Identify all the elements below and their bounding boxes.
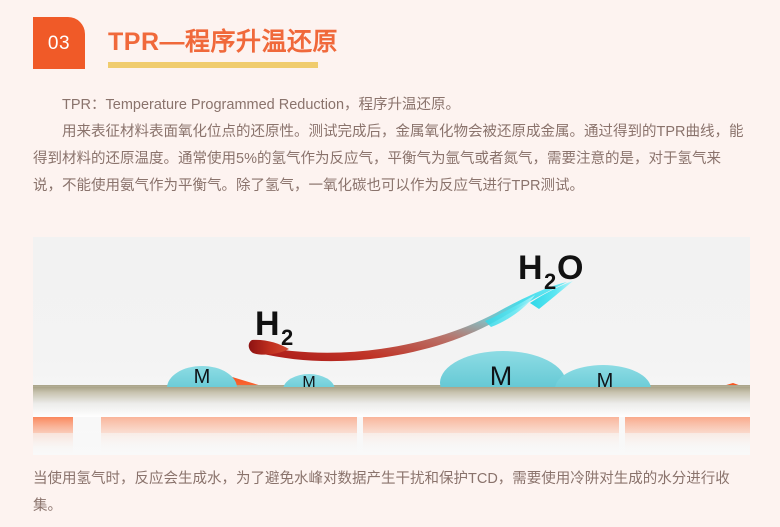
section-number-badge: 03	[33, 17, 85, 69]
reaction-arrow-body	[256, 282, 567, 361]
intro-text-block: TPR：Temperature Programmed Reduction，程序升…	[33, 92, 747, 200]
substrate-overlay	[33, 387, 750, 417]
label-h2o: H 2 O	[518, 249, 583, 294]
reaction-arrow	[249, 281, 573, 361]
tpr-illustration-svg: M M M M H 2 H 2 O	[33, 237, 750, 455]
label-h2-h: H	[255, 305, 280, 343]
flame-fade-overlay	[33, 433, 750, 455]
arrow-head-cyan-2	[485, 295, 535, 327]
section-number-label: 03	[48, 34, 70, 53]
caption-text: 当使用氢气时，反应会生成水，为了避免水峰对数据产生干扰和保护TCD，需要使用冷阱…	[33, 466, 747, 520]
tpr-illustration-panel: M M M M H 2 H 2 O	[33, 237, 750, 455]
figure-caption: 当使用氢气时，反应会生成水，为了避免水峰对数据产生干扰和保护TCD，需要使用冷阱…	[33, 466, 747, 520]
section-header: 03 TPR—程序升温还原	[0, 0, 780, 86]
title-underline	[108, 62, 318, 68]
metal-particles	[33, 351, 750, 417]
metal-label-2: M	[302, 374, 315, 391]
page-title: TPR—程序升温还原	[108, 22, 338, 58]
metal-label-1: M	[194, 366, 211, 388]
metal-label-4: M	[597, 370, 614, 392]
label-h2o-sub: 2	[544, 269, 556, 294]
metal-label-3: M	[490, 361, 513, 391]
label-h2o-o: O	[557, 249, 583, 287]
label-h2-sub: 2	[281, 325, 293, 350]
label-h2o-h: H	[518, 249, 543, 287]
intro-paragraph-1: TPR：Temperature Programmed Reduction，程序升…	[33, 92, 747, 119]
intro-paragraph-2: 用来表征材料表面氧化位点的还原性。测试完成后，金属氧化物会被还原成金属。通过得到…	[33, 119, 747, 200]
